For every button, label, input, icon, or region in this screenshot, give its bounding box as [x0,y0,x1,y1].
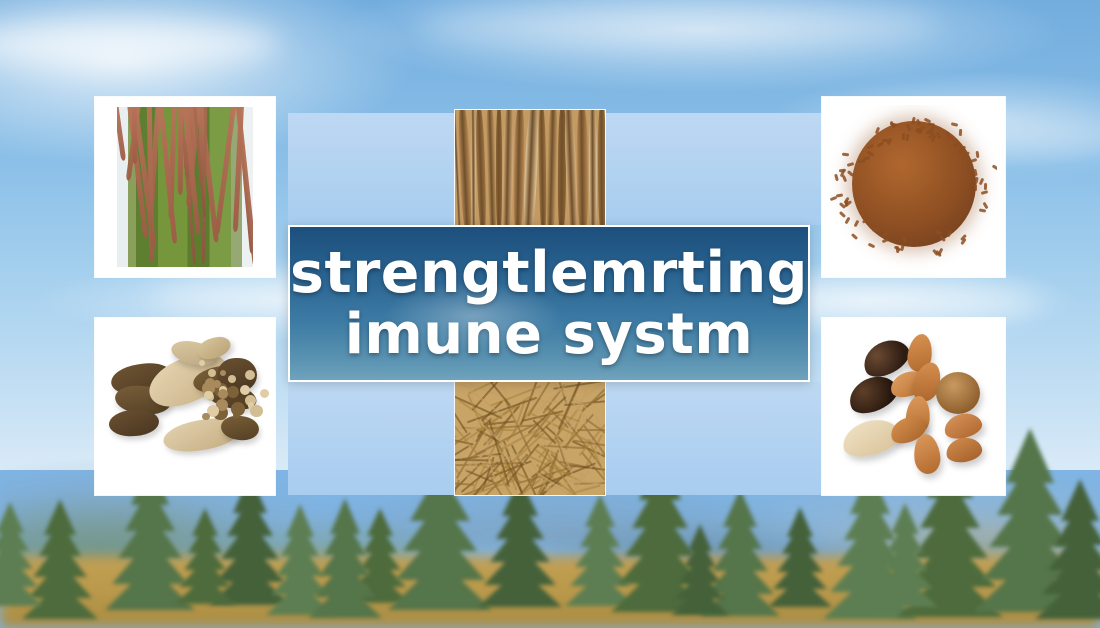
dried-root-stick [545,110,558,225]
title-line-1: strengtlemrting [290,244,808,302]
walnut-shell [936,372,980,414]
root-fragment [240,385,250,395]
conifer-tree [174,504,236,600]
seed-speck [844,216,850,224]
dried-root-stick [538,110,546,225]
root-fiber [455,458,488,461]
root-fiber [455,479,460,495]
dried-root-stick [577,110,589,225]
aerial-root [117,107,126,161]
seed-speck [974,177,979,185]
root-fragment [220,370,226,376]
root-fragment [245,370,255,380]
seed-speck [950,123,958,128]
photo-card-top-center [455,110,605,225]
almond [944,435,984,465]
root-fragment [250,405,262,417]
seed-speck [882,238,890,244]
aerial-root [178,107,184,195]
seed-speck [842,175,847,183]
root-fragment [227,386,239,398]
tangled-fibrous-roots-photo [455,382,605,495]
title-line-2: imune systm [345,306,754,363]
root-fragment [231,402,245,416]
conifer-tree [0,498,44,602]
cloud-wisp [420,6,940,46]
seed-speck [979,209,986,213]
conifer-tree [1034,473,1100,613]
cut-root-piece [108,408,160,437]
seed-speck [974,184,977,191]
seed-speck [868,243,876,249]
dried-root-stick [523,110,541,225]
seed-speck [991,164,997,170]
photo-card-bottom-left [95,318,275,495]
photo-card-bottom-right [822,318,1005,495]
dried-root-stick [589,110,597,225]
seed-speck [842,153,849,157]
seed-pile [852,121,976,247]
root-fragment [202,413,210,421]
aerial-root [131,107,137,164]
photo-card-bottom-center [455,382,605,495]
root-fragment [208,369,216,377]
root-fragment [260,389,269,398]
photo-card-top-left [95,97,275,277]
seed-speck [959,129,962,136]
seed-speck [984,182,987,189]
conifer-tree [307,494,383,614]
cut-medicinal-roots-photo [101,324,269,489]
seed-speck [847,162,855,167]
seed-speck [834,173,839,181]
seed-speck [836,193,843,197]
dried-root-stick [598,110,605,225]
root-fragment [228,375,236,383]
title-banner: strengtlemrting imune systm [288,225,810,382]
mossy-tree-trunk-photo [117,107,253,267]
photo-card-top-right [822,97,1005,277]
seed-speck [851,233,858,240]
seed-speck [978,178,983,186]
conifer-tree [871,499,939,603]
seed-speck [839,169,846,173]
brown-seed-pile-photo [830,105,997,269]
seed-speck [839,211,846,218]
conifer-tree [670,520,730,612]
seed-speck [981,190,989,195]
seed-speck [970,158,978,163]
seed-speck [854,219,860,227]
dried-root-stick [496,110,502,225]
poster-canvas: strengtlemrting imune systm [0,0,1100,628]
seed-speck [976,151,980,158]
dried-root-sticks-photo [455,110,605,225]
dried-root-stick [502,110,514,225]
seed-speck [974,169,978,176]
almond [912,433,942,475]
root-fragment [199,360,205,366]
mixed-nuts-photo [830,326,997,487]
